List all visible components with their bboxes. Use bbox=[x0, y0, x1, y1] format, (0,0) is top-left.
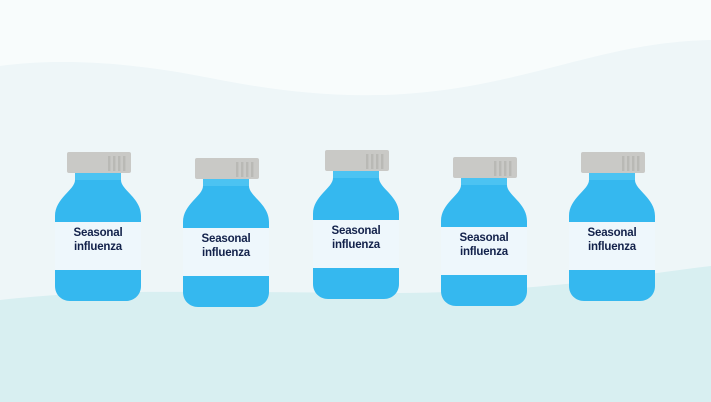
vial-5-label-band bbox=[569, 222, 655, 270]
vial-5: Seasonal influenza bbox=[566, 150, 658, 302]
illustration-canvas: Seasonal influenza Seasonal influe bbox=[0, 0, 711, 402]
vial-5-cap bbox=[581, 152, 645, 173]
vial-4-graphic bbox=[438, 155, 530, 307]
vial-2: Seasonal influenza bbox=[180, 156, 272, 308]
vial-3-cap bbox=[325, 150, 389, 171]
vial-3-graphic bbox=[310, 148, 402, 300]
vial-4-cap bbox=[453, 157, 517, 178]
vial-2-cap bbox=[195, 158, 259, 179]
vial-1-graphic bbox=[52, 150, 144, 302]
vial-4: Seasonal influenza bbox=[438, 155, 530, 307]
vial-2-graphic bbox=[180, 156, 272, 308]
vial-1-label-band bbox=[55, 222, 141, 270]
vial-5-graphic bbox=[566, 150, 658, 302]
vial-2-label-band bbox=[183, 228, 269, 276]
vial-1-cap bbox=[67, 152, 131, 173]
vial-1: Seasonal influenza bbox=[52, 150, 144, 302]
vial-3-label-band bbox=[313, 220, 399, 268]
vial-row: Seasonal influenza Seasonal influe bbox=[0, 0, 711, 402]
vial-3: Seasonal influenza bbox=[310, 148, 402, 300]
vial-4-label-band bbox=[441, 227, 527, 275]
